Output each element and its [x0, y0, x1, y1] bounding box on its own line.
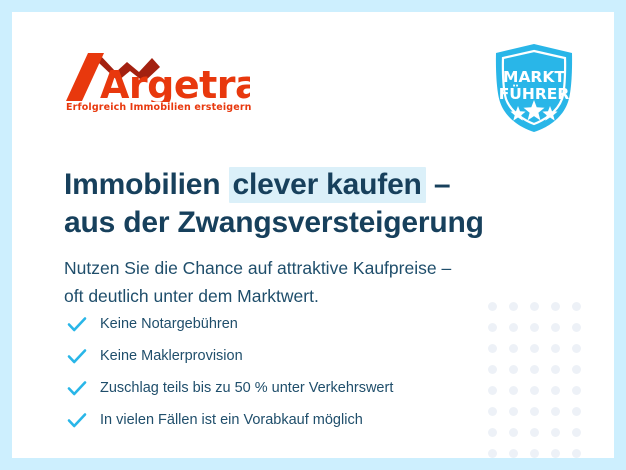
decorative-dot-grid [488, 302, 596, 458]
check-icon [66, 345, 88, 367]
decorative-dot [530, 323, 539, 332]
svg-text:Argetra: Argetra [100, 63, 250, 102]
list-item: In vielen Fällen ist ein Vorabkauf mögli… [66, 404, 496, 436]
benefits-list: Keine Notargebühren Keine Maklerprovisio… [66, 308, 496, 436]
decorative-dot [572, 365, 581, 374]
subheading: Nutzen Sie die Chance auf attraktive Kau… [64, 254, 554, 311]
decorative-dot [530, 428, 539, 437]
list-item: Keine Maklerprovision [66, 340, 496, 372]
decorative-dot [509, 323, 518, 332]
decorative-dot [530, 407, 539, 416]
decorative-dot [551, 323, 560, 332]
list-item: Zuschlag teils bis zu 50 % unter Verkehr… [66, 372, 496, 404]
badge-line1-text: MARKT [503, 68, 565, 86]
decorative-dot [530, 449, 539, 458]
decorative-dot [551, 344, 560, 353]
decorative-dot [572, 407, 581, 416]
list-item-label: Keine Maklerprovision [100, 349, 243, 364]
decorative-dot [551, 449, 560, 458]
decorative-dot [530, 386, 539, 395]
decorative-dot [488, 449, 497, 458]
decorative-dot [572, 386, 581, 395]
decorative-dot [509, 449, 518, 458]
decorative-dot [530, 365, 539, 374]
page-title: Immobilien clever kaufen – aus der Zwang… [64, 166, 534, 242]
decorative-dot [551, 386, 560, 395]
decorative-dot [572, 428, 581, 437]
shield-badge-icon: MARKT FÜHRER [490, 42, 578, 134]
decorative-dot [509, 407, 518, 416]
list-item-label: Zuschlag teils bis zu 50 % unter Verkehr… [100, 381, 393, 396]
list-item-label: Keine Notargebühren [100, 317, 238, 332]
argetra-roof-a-icon: Argetra [64, 50, 250, 102]
check-icon [66, 377, 88, 399]
logo-tagline: Erfolgreich Immobilien ersteigern [66, 102, 252, 113]
check-icon [66, 409, 88, 431]
decorative-dot [572, 323, 581, 332]
headline-line2: aus der Zwangsversteigerung [64, 204, 534, 242]
headline-line1-before: Immobilien [64, 168, 229, 201]
subheading-line2: oft deutlich unter dem Marktwert. [64, 282, 554, 310]
decorative-dot [551, 365, 560, 374]
headline-line1-after: – [426, 168, 451, 201]
decorative-dot [551, 428, 560, 437]
list-item: Keine Notargebühren [66, 308, 496, 340]
markt-fuehrer-badge: MARKT FÜHRER [490, 42, 578, 134]
argetra-logo[interactable]: Argetra Erfolgreich Immobilien ersteiger… [64, 50, 254, 122]
decorative-dot [509, 344, 518, 353]
headline-highlight: clever kaufen [229, 167, 426, 203]
decorative-dot [509, 386, 518, 395]
subheading-line1: Nutzen Sie die Chance auf attraktive Kau… [64, 254, 554, 282]
decorative-dot [551, 407, 560, 416]
decorative-dot [509, 365, 518, 374]
content-card: Argetra Erfolgreich Immobilien ersteiger… [12, 12, 614, 458]
promo-banner: Argetra Erfolgreich Immobilien ersteiger… [0, 0, 626, 470]
decorative-dot [509, 428, 518, 437]
decorative-dot [530, 344, 539, 353]
decorative-dot [572, 302, 581, 311]
decorative-dot [572, 344, 581, 353]
list-item-label: In vielen Fällen ist ein Vorabkauf mögli… [100, 413, 363, 428]
check-icon [66, 313, 88, 335]
decorative-dot [572, 449, 581, 458]
